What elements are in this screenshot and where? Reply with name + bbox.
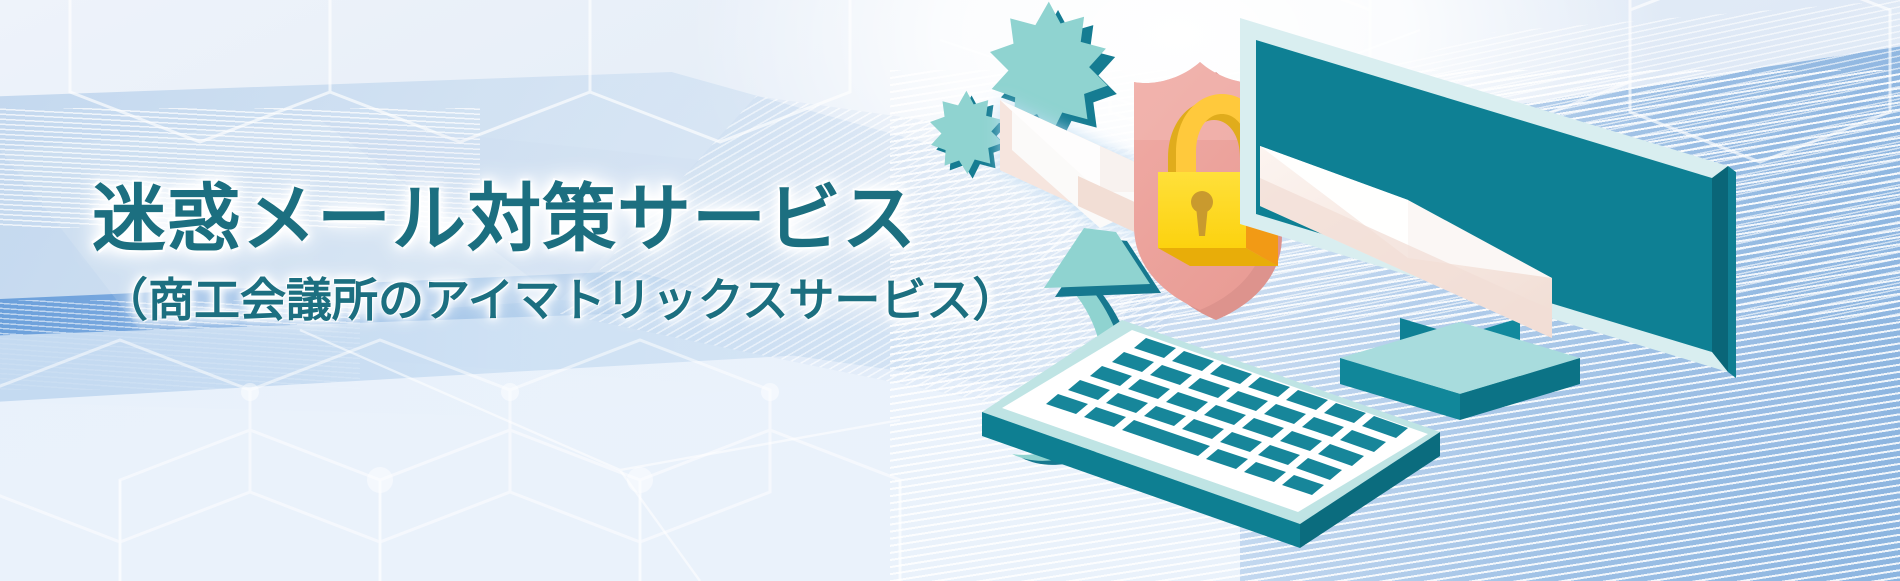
page-title: 迷惑メール対策サービス — [92, 178, 1018, 261]
page-subtitle: （商工会議所のアイマトリックスサービス） — [102, 273, 1018, 328]
headline-block: 迷惑メール対策サービス （商工会議所のアイマトリックスサービス） — [92, 178, 1018, 328]
virus-small-icon — [930, 91, 1008, 179]
spam-measures-service-banner: 迷惑メール対策サービス （商工会議所のアイマトリックスサービス） — [0, 0, 1900, 581]
security-illustration — [900, 0, 1900, 581]
